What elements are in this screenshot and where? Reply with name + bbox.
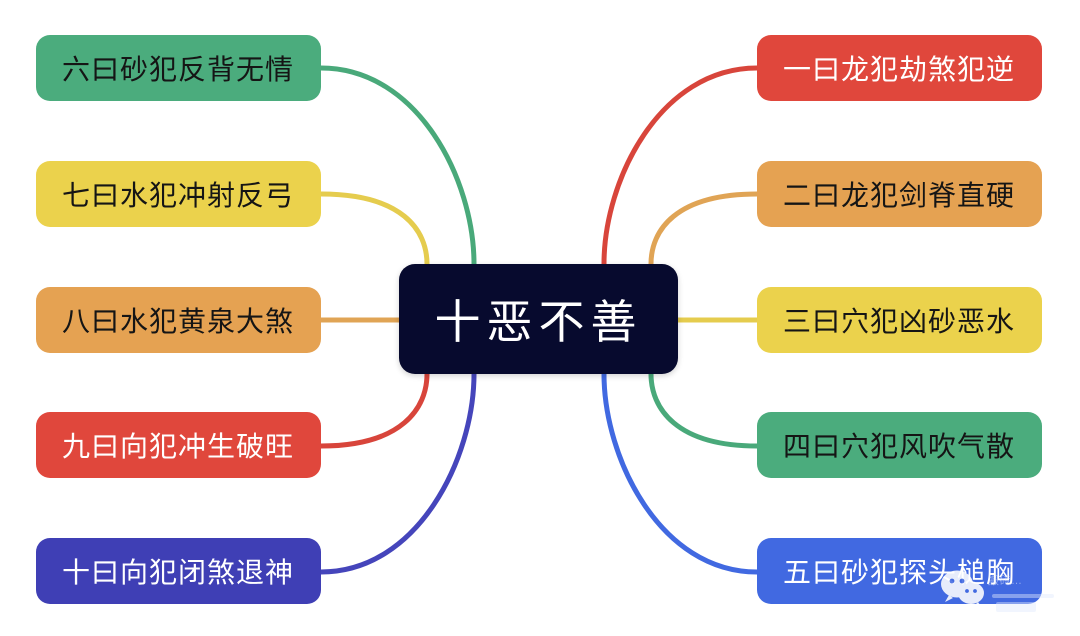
- branch-label-10: 十曰向犯闭煞退神: [62, 551, 294, 591]
- edge-to-node-4: [651, 374, 757, 446]
- branch-label-2: 二曰龙犯剑脊直硬: [783, 174, 1015, 214]
- edge-to-node-5: [604, 374, 757, 572]
- mind-map-canvas: 六曰砂犯反背无情 七曰水犯冲射反弓 八曰水犯黄泉大煞 九曰向犯冲生破旺 十曰向犯…: [0, 0, 1080, 636]
- edge-to-node-2: [651, 194, 757, 264]
- branch-node-4[interactable]: 四曰穴犯风吹气散: [757, 412, 1042, 478]
- branch-node-9[interactable]: 九曰向犯冲生破旺: [36, 412, 321, 478]
- branch-node-6[interactable]: 六曰砂犯反背无情: [36, 35, 321, 101]
- center-node-label: 十恶不善: [435, 286, 643, 352]
- branch-label-9: 九曰向犯冲生破旺: [62, 425, 294, 465]
- branch-node-2[interactable]: 二曰龙犯剑脊直硬: [757, 161, 1042, 227]
- edge-to-node-10: [321, 374, 474, 572]
- branch-label-1: 一曰龙犯劫煞犯逆: [783, 48, 1015, 88]
- edge-to-node-1: [604, 68, 757, 264]
- branch-node-1[interactable]: 一曰龙犯劫煞犯逆: [757, 35, 1042, 101]
- branch-node-3[interactable]: 三曰穴犯凶砂恶水: [757, 287, 1042, 353]
- edge-to-node-9: [321, 374, 427, 446]
- branch-label-3: 三曰穴犯凶砂恶水: [783, 300, 1015, 340]
- edge-to-node-7: [321, 194, 427, 264]
- center-node[interactable]: 十恶不善: [399, 264, 678, 374]
- branch-node-5[interactable]: 五曰砂犯探头槌胸: [757, 538, 1042, 604]
- branch-label-5: 五曰砂犯探头槌胸: [783, 551, 1015, 591]
- branch-node-7[interactable]: 七曰水犯冲射反弓: [36, 161, 321, 227]
- edge-to-node-6: [321, 68, 474, 264]
- branch-node-10[interactable]: 十曰向犯闭煞退神: [36, 538, 321, 604]
- branch-label-4: 四曰穴犯风吹气散: [783, 425, 1015, 465]
- branch-label-6: 六曰砂犯反背无情: [62, 48, 294, 88]
- branch-label-7: 七曰水犯冲射反弓: [62, 174, 294, 214]
- branch-label-8: 八曰水犯黄泉大煞: [62, 300, 294, 340]
- branch-node-8[interactable]: 八曰水犯黄泉大煞: [36, 287, 321, 353]
